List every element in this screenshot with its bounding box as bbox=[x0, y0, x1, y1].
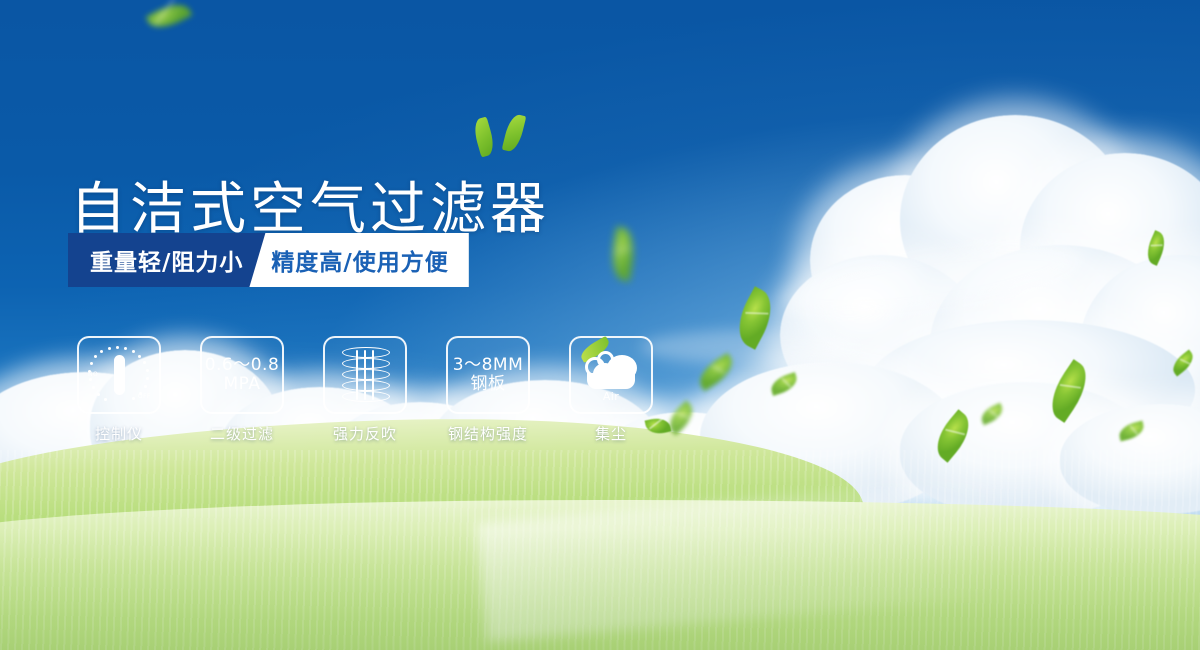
steel-value-line2: 钢板 bbox=[471, 375, 506, 394]
dial-label-off: OFF bbox=[138, 393, 151, 400]
banner-title: 自洁式空气过滤器 bbox=[70, 182, 550, 238]
subtitle-badges: 重量轻/阻力小 精度高/使用方便 bbox=[68, 233, 469, 287]
dial-gauge-icon: NO OFF bbox=[88, 346, 150, 404]
dial-label-no: NO bbox=[88, 371, 98, 378]
pressure-value-line1: 0.6～0.8 bbox=[205, 356, 280, 375]
promotional-banner: 自洁式空气过滤器 重量轻/阻力小 精度高/使用方便 bbox=[0, 0, 1200, 650]
feature-icon-box: Air bbox=[569, 336, 653, 414]
feature-item-controller[interactable]: NO OFF 控制仪 bbox=[76, 336, 162, 444]
feature-icon-row: NO OFF 控制仪 0.6～0.8 MPA 二级过滤 bbox=[76, 336, 654, 444]
feature-item-pressure[interactable]: 0.6～0.8 MPA 二级过滤 bbox=[199, 336, 285, 444]
feature-label: 集尘 bbox=[595, 423, 627, 444]
feature-label: 二级过滤 bbox=[210, 423, 274, 444]
feature-label: 钢结构强度 bbox=[448, 423, 528, 444]
sprout-leaves-icon bbox=[474, 112, 532, 162]
pressure-value-line2: MPA bbox=[224, 375, 261, 394]
feature-icon-box: 0.6～0.8 MPA bbox=[200, 336, 284, 414]
air-cloud-icon: Air bbox=[581, 349, 641, 401]
subtitle-badge-left: 重量轻/阻力小 bbox=[68, 233, 265, 287]
feature-item-backblow[interactable]: 强力反吹 bbox=[322, 336, 408, 444]
subtitle-badge-right: 精度高/使用方便 bbox=[249, 233, 468, 287]
feature-icon-box: 3～8MM 钢板 bbox=[446, 336, 530, 414]
steel-value-line1: 3～8MM bbox=[453, 356, 523, 375]
feature-icon-box: NO OFF bbox=[77, 336, 161, 414]
air-label: Air bbox=[581, 390, 641, 403]
feature-icon-box bbox=[323, 336, 407, 414]
feature-label: 强力反吹 bbox=[333, 423, 397, 444]
feature-item-dust[interactable]: Air 集尘 bbox=[568, 336, 654, 444]
feature-item-steel[interactable]: 3～8MM 钢板 钢结构强度 bbox=[445, 336, 531, 444]
filter-coil-icon bbox=[342, 347, 388, 403]
feature-label: 控制仪 bbox=[95, 423, 143, 444]
